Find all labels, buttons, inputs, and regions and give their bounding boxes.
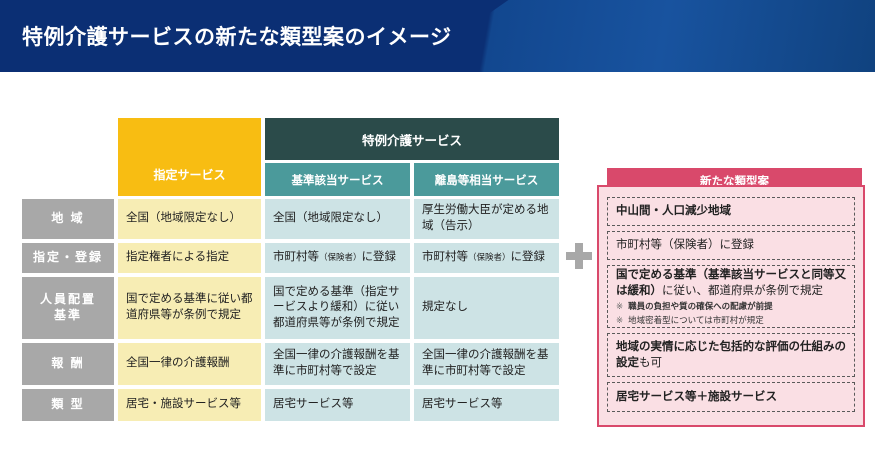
cell-designated-remuneration: 全国一律の介護報酬 — [118, 343, 261, 385]
column-header-standard-applicable-service: 基準該当サービス — [265, 163, 410, 196]
cell-text-pre: 市町村等 — [422, 250, 468, 266]
plus-icon — [566, 243, 592, 269]
row-label-service-type: 類 型 — [22, 389, 114, 421]
cell-designated-designation: 指定権者による指定 — [118, 243, 261, 273]
new-type-cell-region: 中山間・人口減少地域 — [607, 197, 855, 226]
new-type-staffing-text: 国で定める基準（基準該当サービスと同等又は緩和）に従い、都道府県が条例で規定 — [616, 267, 846, 299]
page-title: 特例介護サービスの新たな類型案のイメージ — [22, 21, 452, 51]
note-mark-icon: ※ — [616, 300, 623, 312]
cell-remote-service-type: 居宅サービス等 — [414, 389, 559, 421]
cell-standard-remuneration: 全国一律の介護報酬を基準に市町村等で設定 — [265, 343, 410, 385]
new-type-cell-staffing: 国で定める基準（基準該当サービスと同等又は緩和）に従い、都道府県が条例で規定 ※… — [607, 265, 855, 328]
cell-text-insurer-note: （保険者） — [319, 252, 362, 263]
table-row: 地 域 全国（地域限定なし） 全国（地域限定なし） 厚生労働大臣が定める地域（告… — [22, 199, 567, 239]
page-header: 特例介護サービスの新たな類型案のイメージ — [0, 0, 875, 72]
table-row: 人員配置 基準 国で定める基準に従い都道府県等が条例で規定 国で定める基準（指定… — [22, 277, 567, 339]
cell-designated-staffing: 国で定める基準に従い都道府県等が条例で規定 — [118, 277, 261, 339]
note-mark-icon: ※ — [616, 314, 623, 326]
cell-remote-designation: 市町村等（保険者）に登録 — [414, 243, 559, 273]
new-type-cell-registration: 市町村等（保険者）に登録 — [607, 231, 855, 260]
cell-designated-service-type: 居宅・施設サービス等 — [118, 389, 261, 421]
cell-remote-region: 厚生労働大臣が定める地域（告示） — [414, 199, 559, 239]
cell-standard-region: 全国（地域限定なし） — [265, 199, 410, 239]
table-header-row: 指定サービス 特例介護サービス 基準該当サービス 離島等相当サービス — [22, 118, 567, 196]
cell-text-insurer-note: （保険者） — [468, 252, 511, 263]
cell-standard-designation: 市町村等（保険者）に登録 — [265, 243, 410, 273]
cell-remote-staffing: 規定なし — [414, 277, 559, 339]
new-type-cell-service-type: 居宅サービス等＋施設サービス — [607, 382, 855, 412]
new-type-staffing-rest: に従い、都道府県が条例で規定 — [662, 285, 823, 297]
new-type-cell-remuneration: 地域の実情に応じた包括的な評価の仕組みの設定も可 — [607, 333, 855, 377]
row-label-region: 地 域 — [22, 199, 114, 239]
table-row: 指定・登録 指定権者による指定 市町村等（保険者）に登録 市町村等（保険者）に登… — [22, 243, 567, 273]
table-row: 類 型 居宅・施設サービス等 居宅サービス等 居宅サービス等 — [22, 389, 567, 421]
header-corner-spacer — [22, 118, 114, 196]
new-type-region-text: 中山間・人口減少地域 — [616, 203, 846, 219]
column-header-designated-service: 指定サービス — [118, 118, 261, 196]
cell-designated-region: 全国（地域限定なし） — [118, 199, 261, 239]
comparison-table: 指定サービス 特例介護サービス 基準該当サービス 離島等相当サービス 地 域 全… — [22, 118, 567, 421]
table-row: 報 酬 全国一律の介護報酬 全国一律の介護報酬を基準に市町村等で設定 全国一律の… — [22, 343, 567, 385]
note-text: 職員の負担や質の確保への配慮が前提 — [628, 300, 773, 312]
column-subheader-row: 基準該当サービス 離島等相当サービス — [265, 163, 559, 196]
new-type-staffing-note-1: ※ 職員の負担や質の確保への配慮が前提 — [616, 300, 846, 312]
new-type-registration-text: 市町村等（保険者）に登録 — [616, 237, 846, 253]
new-type-staffing-note-2: ※ 地域密着型については市町村が規定 — [616, 314, 846, 326]
column-header-special-care-service: 特例介護サービス — [265, 118, 559, 160]
cell-text-pre: 市町村等 — [273, 250, 319, 266]
new-type-remuneration-rest: も可 — [639, 357, 662, 369]
row-label-designation: 指定・登録 — [22, 243, 114, 273]
row-label-remuneration: 報 酬 — [22, 343, 114, 385]
new-type-service-type-text: 居宅サービス等＋施設サービス — [616, 389, 846, 405]
cell-text-post: に登録 — [362, 250, 397, 266]
cell-remote-remuneration: 全国一律の介護報酬を基準に市町村等で設定 — [414, 343, 559, 385]
new-type-remuneration-text: 地域の実情に応じた包括的な評価の仕組みの設定も可 — [616, 339, 846, 371]
note-text: 地域密着型については市町村が規定 — [628, 314, 764, 326]
header-divider — [0, 72, 875, 75]
cell-standard-staffing: 国で定める基準（指定サービスより緩和）に従い都道府県等が条例で規定 — [265, 277, 410, 339]
cell-text-post: に登録 — [511, 250, 546, 266]
new-type-panel: 中山間・人口減少地域 市町村等（保険者）に登録 国で定める基準（基準該当サービス… — [597, 185, 865, 427]
header-gradient-wedge — [405, 0, 875, 72]
cell-standard-service-type: 居宅サービス等 — [265, 389, 410, 421]
column-header-remote-island-service: 離島等相当サービス — [414, 163, 559, 196]
column-header-special-care-group: 特例介護サービス 基準該当サービス 離島等相当サービス — [265, 118, 559, 196]
row-label-staffing-standard: 人員配置 基準 — [22, 277, 114, 339]
